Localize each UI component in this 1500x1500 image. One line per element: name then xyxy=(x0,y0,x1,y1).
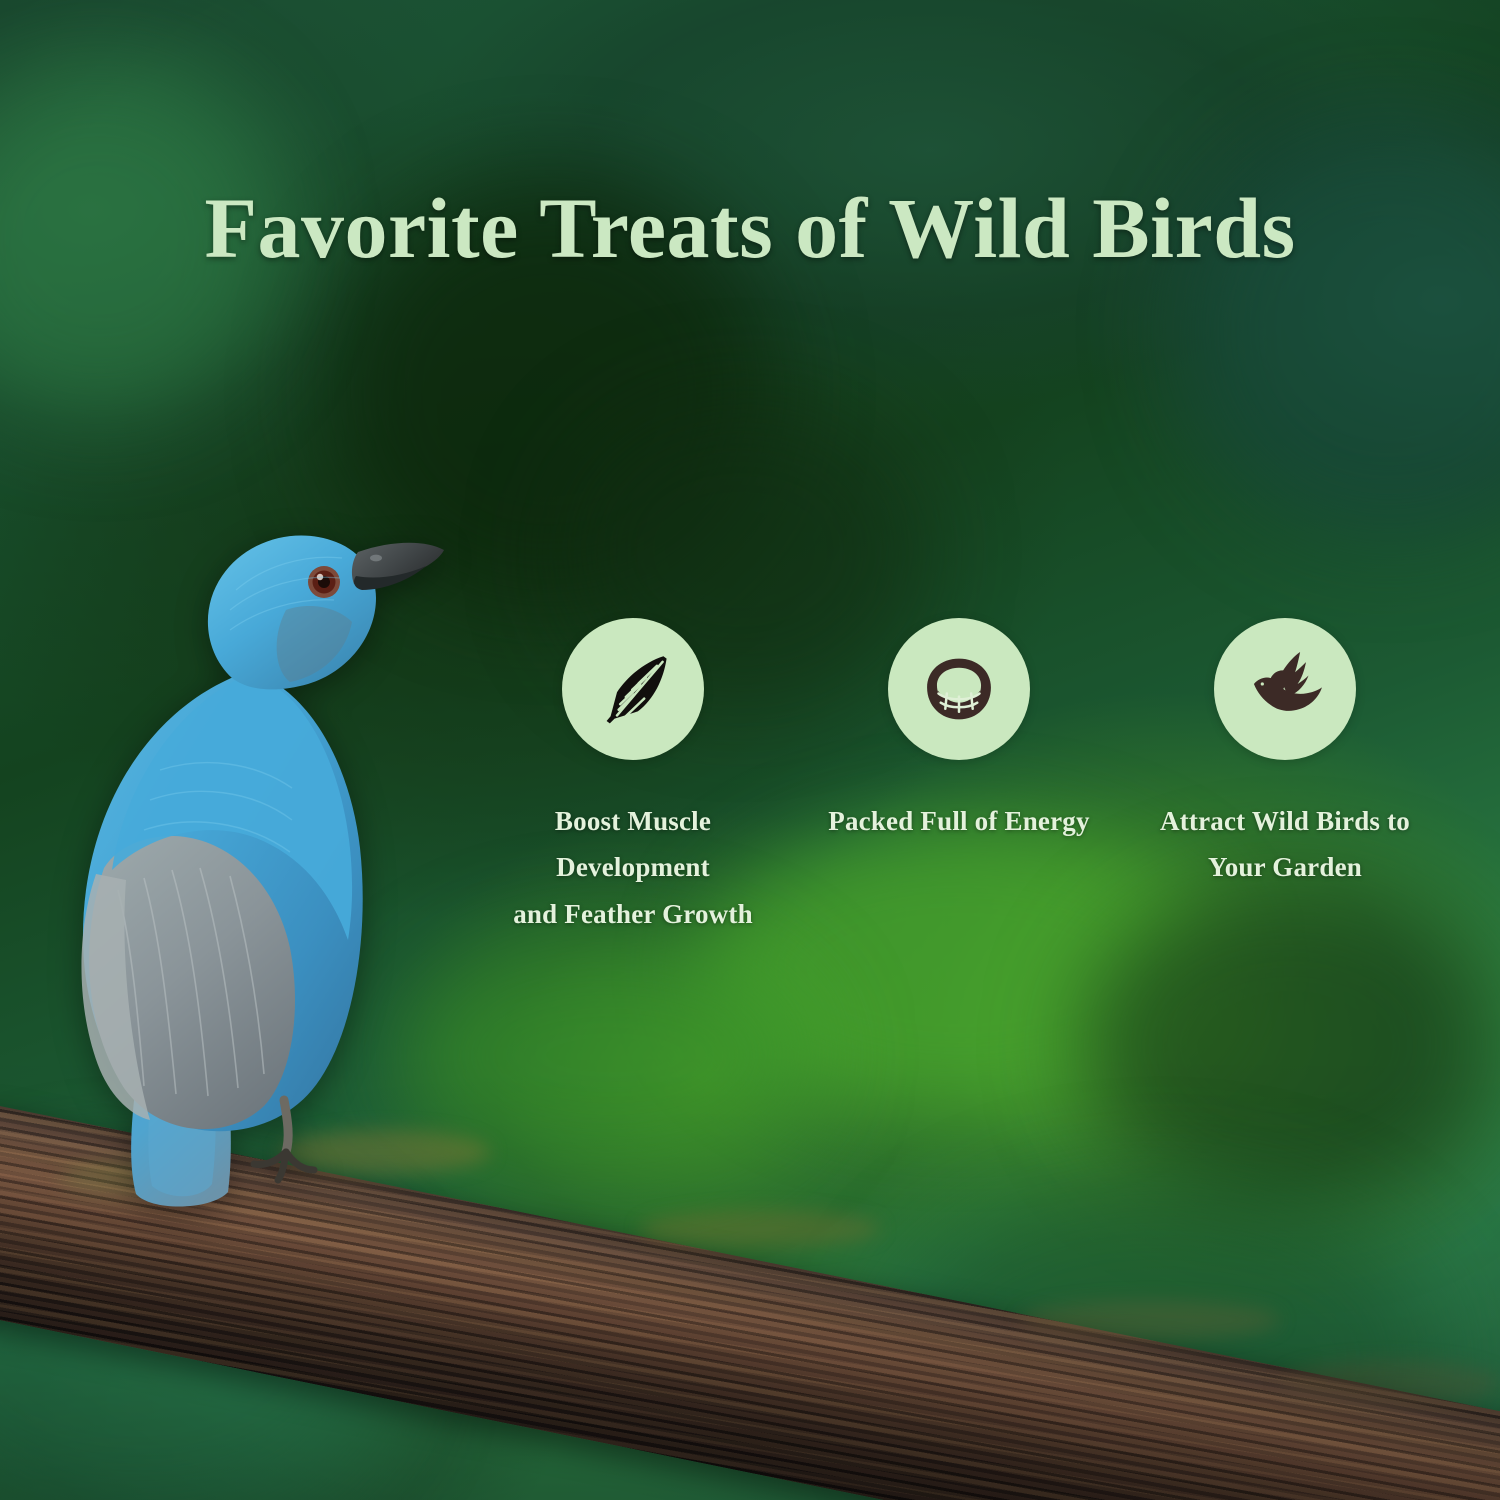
feature-icon-badge xyxy=(562,618,704,760)
feature-item-boost-muscle: Boost Muscle Development and Feather Gro… xyxy=(470,618,796,937)
flying-bird-icon xyxy=(1243,647,1327,731)
feather-icon xyxy=(593,649,673,729)
branch-moss-patch xyxy=(1020,1300,1280,1340)
feature-label: Attract Wild Birds to Your Garden xyxy=(1160,798,1410,891)
branch-moss-patch xyxy=(1280,1360,1500,1406)
feature-icon-badge xyxy=(1214,618,1356,760)
page-title: Favorite Treats of Wild Birds xyxy=(0,178,1500,278)
feature-item-attract-birds: Attract Wild Birds to Your Garden xyxy=(1122,618,1448,891)
feature-label-line: Boost Muscle xyxy=(513,798,753,844)
feature-icon-badge xyxy=(888,618,1030,760)
feature-list: Boost Muscle Development and Feather Gro… xyxy=(470,618,1450,937)
feature-label: Boost Muscle Development and Feather Gro… xyxy=(513,798,753,937)
feature-label-line: and Feather Growth xyxy=(513,891,753,937)
feature-label-line: Development xyxy=(513,844,753,890)
blue-bird-photo xyxy=(40,470,470,1210)
feature-label-line: Attract Wild Birds to xyxy=(1160,798,1410,844)
product-lifestyle-banner: Favorite Treats of Wild Birds xyxy=(0,0,1500,1500)
feature-item-packed-energy: Packed Full of Energy xyxy=(796,618,1122,844)
feature-label: Packed Full of Energy xyxy=(828,798,1089,844)
branch-moss-patch xyxy=(640,1210,880,1248)
bird-feeder-bowl-icon xyxy=(921,651,997,727)
feature-label-line: Packed Full of Energy xyxy=(828,798,1089,844)
feature-label-line: Your Garden xyxy=(1160,844,1410,890)
